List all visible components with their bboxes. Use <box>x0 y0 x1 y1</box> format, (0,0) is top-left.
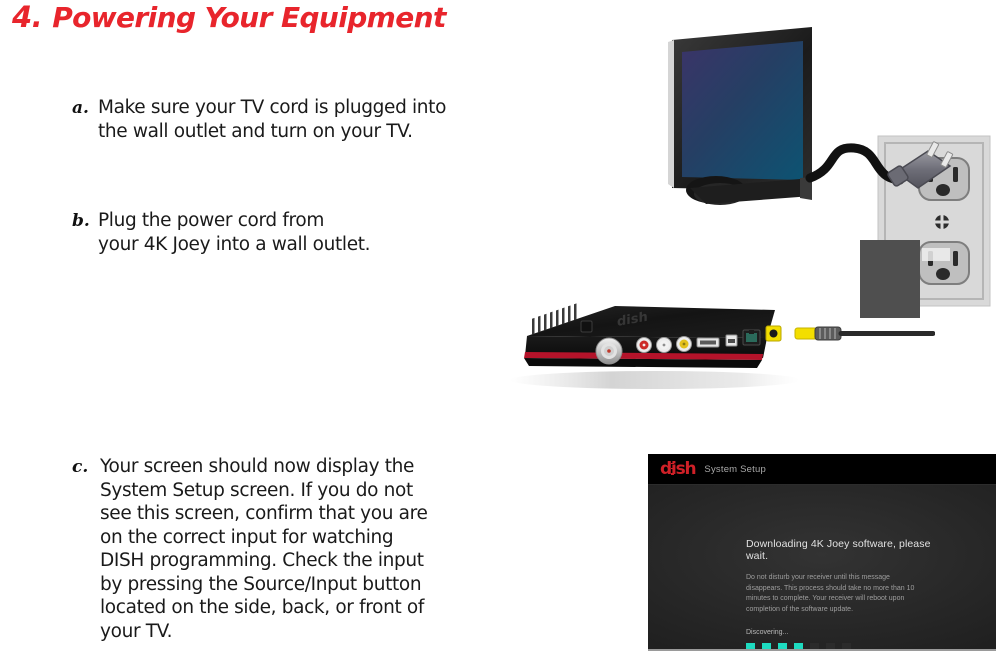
instruction-item-c: c. Your screen should now display the Sy… <box>72 455 512 643</box>
rca-jack-red <box>637 338 652 353</box>
progress-cell-3 <box>778 643 787 651</box>
progress-cell-7 <box>842 643 851 651</box>
instruction-text-c: Your screen should now display the Syste… <box>100 455 428 643</box>
ethernet-port <box>743 330 760 345</box>
dish-logo-dots <box>671 463 674 475</box>
download-message: Downloading 4K Joey software, please wai… <box>746 538 951 562</box>
progress-indicator <box>746 643 951 651</box>
progress-cell-2 <box>762 643 771 651</box>
joey-side-button <box>581 321 592 332</box>
setup-screen-body: Downloading 4K Joey software, please wai… <box>648 484 996 650</box>
coax-connector <box>596 338 622 364</box>
system-setup-screen: dish System Setup Downloading 4K Joey so… <box>648 454 996 651</box>
rca-jack-white <box>657 338 672 353</box>
dish-logo-text: dish <box>660 459 695 479</box>
instruction-marker-b: b. <box>72 209 98 233</box>
joey-device-diagram: dish <box>505 288 935 403</box>
instruction-text-b: Plug the power cord from your 4K Joey in… <box>98 209 370 256</box>
tv-power-diagram <box>660 18 999 318</box>
dish-logo: dish <box>660 461 695 478</box>
rca-jack-yellow <box>677 337 692 352</box>
instruction-item-a: a. Make sure your TV cord is plugged int… <box>72 96 532 143</box>
joey-shadow <box>510 371 800 389</box>
outlet-socket-bottom <box>919 242 969 284</box>
instruction-text-a: Make sure your TV cord is plugged into t… <box>98 96 446 143</box>
outlet-screw <box>935 215 949 229</box>
setup-screen-header: dish System Setup <box>648 454 996 484</box>
page-title-number: 4. <box>12 0 42 34</box>
progress-cell-4 <box>794 643 803 651</box>
progress-cell-6 <box>826 643 835 651</box>
page-title: 4. Powering Your Equipment <box>12 0 446 34</box>
hdmi-port <box>697 338 719 347</box>
progress-cell-1 <box>746 643 755 651</box>
instruction-marker-c: c. <box>72 455 100 479</box>
instruction-item-b: b. Plug the power cord from your 4K Joey… <box>72 209 532 256</box>
instruction-marker-a: a. <box>72 96 98 120</box>
usb-port <box>726 335 737 346</box>
page-title-text: Powering Your Equipment <box>52 1 446 34</box>
progress-cell-5 <box>810 643 819 651</box>
download-detail-text: Do not disturb your receiver until this … <box>746 573 921 615</box>
discovering-status: Discovering... <box>746 629 951 636</box>
setup-screen-title: System Setup <box>704 464 766 475</box>
power-port <box>766 326 781 341</box>
joey-power-cable <box>795 327 933 340</box>
television <box>668 27 812 205</box>
setup-message-block: Downloading 4K Joey software, please wai… <box>746 538 951 651</box>
